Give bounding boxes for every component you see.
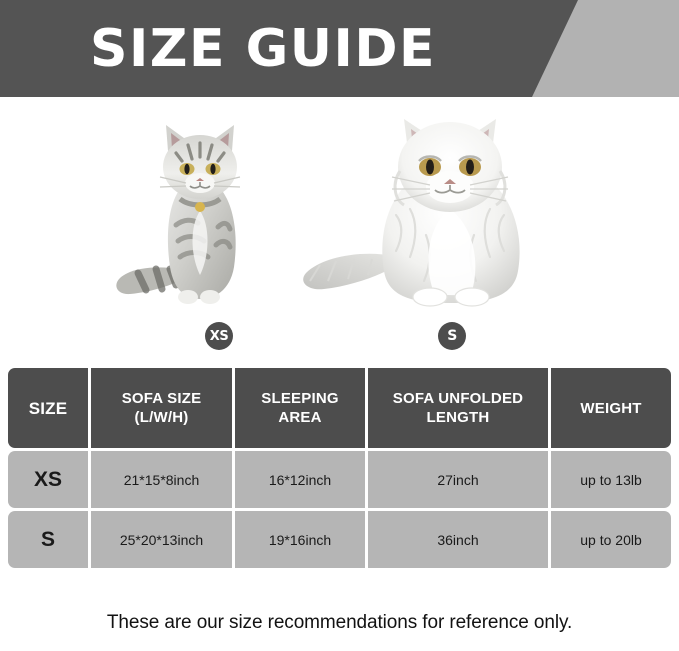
table-header-row: SIZE SOFA SIZE (L/W/H) SLEEPING AREA SOF… [8, 368, 671, 448]
column-header-weight-label: WEIGHT [580, 399, 641, 418]
cat-photo-area [0, 97, 679, 347]
cell-weight-value: up to 13lb [580, 472, 642, 488]
column-header-weight: WEIGHT [551, 368, 671, 448]
size-badge-xs: XS [205, 322, 233, 350]
footer-note: These are our size recommendations for r… [0, 612, 679, 634]
column-header-size-label: SIZE [29, 399, 68, 418]
page-title: SIZE GUIDE [90, 19, 436, 79]
silver-tabby-kitten-illustration [108, 115, 293, 315]
header-banner: SIZE GUIDE [0, 0, 679, 97]
cell-weight: up to 13lb [551, 451, 671, 508]
table-row: XS 21*15*8inch 16*12inch 27inch up to 13… [8, 451, 671, 508]
cell-sofa-unfolded-length-value: 27inch [437, 472, 478, 488]
cell-sofa-unfolded-length: 27inch [368, 451, 548, 508]
cell-sofa-size: 25*20*13inch [91, 511, 232, 568]
cell-weight-value: up to 20lb [580, 532, 642, 548]
column-header-sleeping-area-line2: AREA [261, 408, 338, 427]
cell-size-value: S [41, 528, 55, 552]
column-header-sofa-size-line2: (L/W/H) [122, 408, 202, 427]
cell-sofa-unfolded-length-value: 36inch [437, 532, 478, 548]
cell-sofa-size-value: 25*20*13inch [120, 532, 203, 548]
cell-sofa-size-value: 21*15*8inch [124, 472, 200, 488]
cell-sleeping-area-value: 19*16inch [269, 532, 331, 548]
size-badge-s-label: S [447, 328, 457, 344]
cell-sleeping-area-value: 16*12inch [269, 472, 331, 488]
cell-sofa-size: 21*15*8inch [91, 451, 232, 508]
silver-tabby-kitten-photo [108, 115, 293, 315]
cell-size-value: XS [34, 468, 62, 492]
column-header-sofa-size-line1: SOFA SIZE [122, 389, 202, 408]
column-header-sofa-size: SOFA SIZE (L/W/H) [91, 368, 232, 448]
column-header-sleeping-area: SLEEPING AREA [235, 368, 365, 448]
column-header-sofa-unfolded-length-line2: LENGTH [393, 408, 523, 427]
white-persian-cat-illustration [300, 105, 595, 317]
cell-weight: up to 20lb [551, 511, 671, 568]
white-persian-cat-photo [300, 105, 595, 317]
table-row: S 25*20*13inch 19*16inch 36inch up to 20… [8, 511, 671, 568]
cell-sleeping-area: 19*16inch [235, 511, 365, 568]
column-header-size: SIZE [8, 368, 88, 448]
size-table: SIZE SOFA SIZE (L/W/H) SLEEPING AREA SOF… [8, 368, 671, 568]
size-badge-xs-label: XS [210, 329, 228, 344]
cell-size: XS [8, 451, 88, 508]
column-header-sofa-unfolded-length-line1: SOFA UNFOLDED [393, 389, 523, 408]
cell-sofa-unfolded-length: 36inch [368, 511, 548, 568]
cell-size: S [8, 511, 88, 568]
size-badge-s: S [438, 322, 466, 350]
column-header-sleeping-area-line1: SLEEPING [261, 389, 338, 408]
cell-sleeping-area: 16*12inch [235, 451, 365, 508]
column-header-sofa-unfolded-length: SOFA UNFOLDED LENGTH [368, 368, 548, 448]
